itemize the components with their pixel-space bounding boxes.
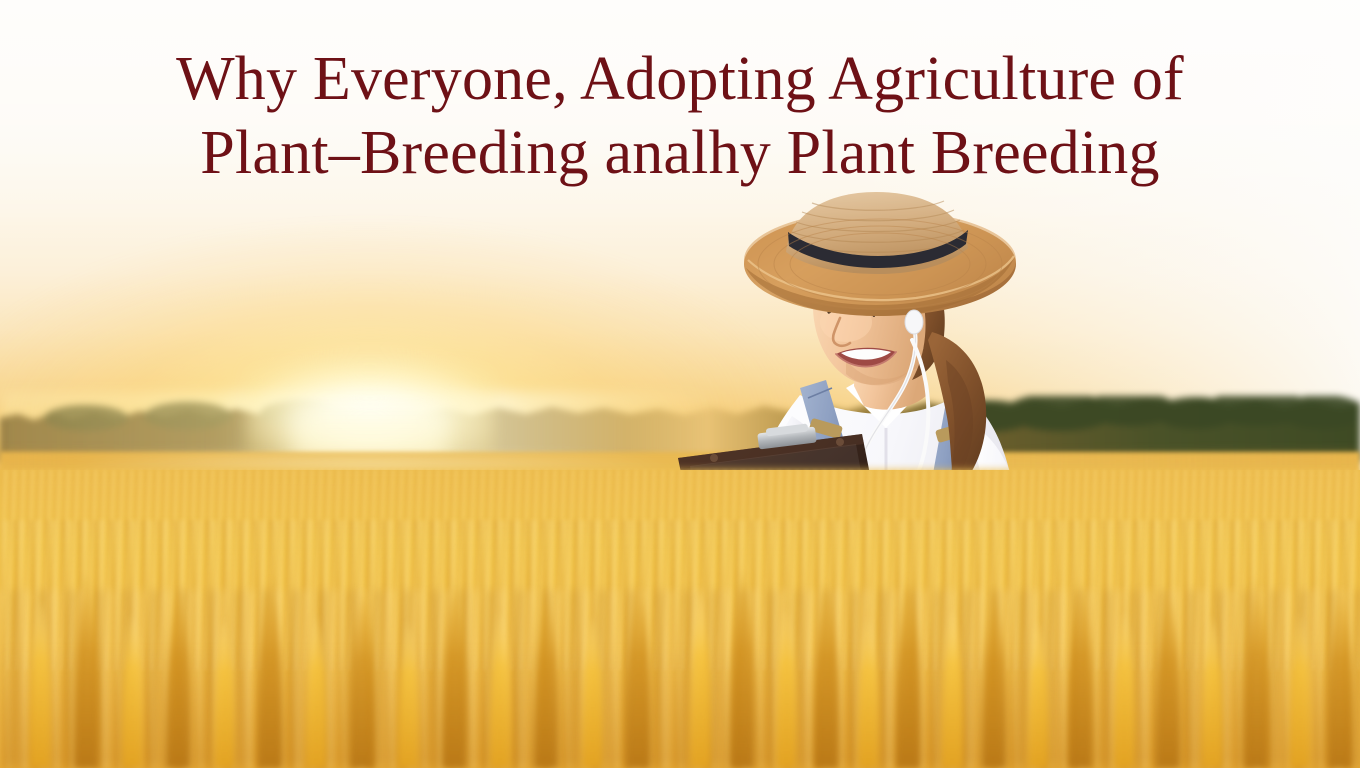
slide-title: Why Everyone, Adopting Agriculture of Pl… [0, 42, 1360, 190]
wheat-bottom-shadow [0, 648, 1360, 768]
title-line-2: Plant–Breeding analhy Plant Breeding [0, 116, 1360, 190]
straw-sun-hat [744, 192, 1016, 316]
title-line-1: Why Everyone, Adopting Agriculture of [0, 42, 1360, 116]
slide-canvas: Why Everyone, Adopting Agriculture of Pl… [0, 0, 1360, 768]
